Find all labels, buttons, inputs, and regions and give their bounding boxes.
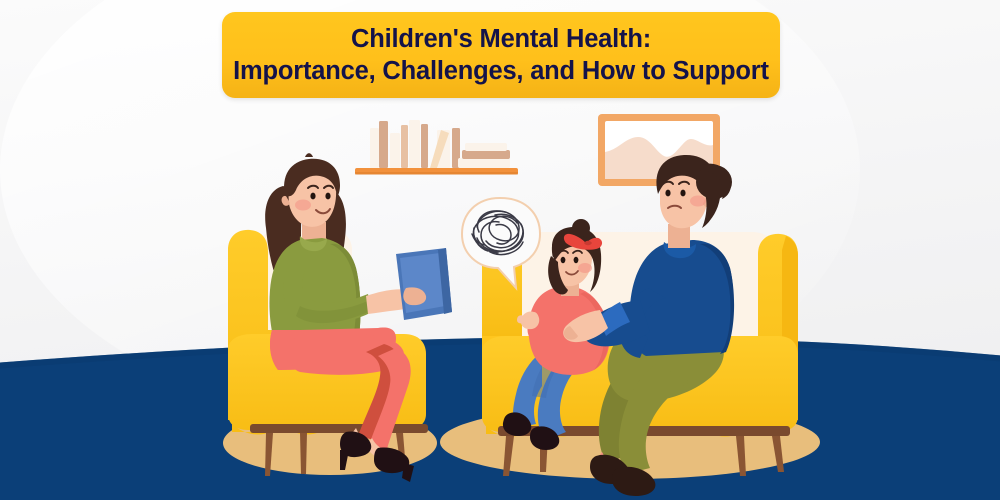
therapist-eye-right — [325, 193, 330, 200]
title-line-1: Children's Mental Health: — [351, 23, 651, 55]
therapist-eye-left — [310, 193, 315, 200]
mother-blush — [690, 196, 706, 207]
blue-clipboard — [396, 248, 452, 320]
armchair-leg-rail — [250, 424, 428, 433]
child-topknot — [572, 219, 590, 237]
title-banner: Children's Mental Health: Importance, Ch… — [222, 12, 780, 98]
illustration-scene: Children's Mental Health: Importance, Ch… — [0, 0, 1000, 500]
child-blush — [578, 263, 592, 273]
armchair-leg-2 — [300, 433, 307, 474]
therapist-blush — [295, 200, 311, 211]
title-line-2: Importance, Challenges, and How to Suppo… — [233, 55, 769, 87]
